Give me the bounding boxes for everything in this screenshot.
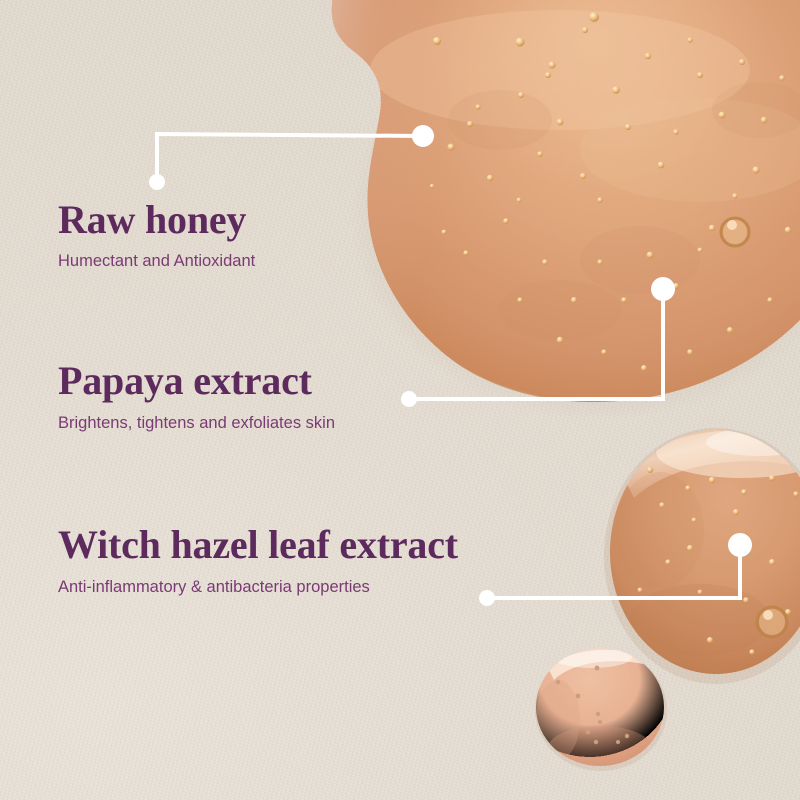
connector-papaya-extract-text-dot (401, 391, 417, 407)
callout-papaya-extract: Papaya extract Brightens, tightens and e… (58, 361, 335, 433)
callout-raw-honey-subtitle: Humectant and Antioxidant (58, 252, 255, 271)
connector-witch-hazel-text-dot (479, 590, 495, 606)
callout-witch-hazel-leaf-extract-title: Witch hazel leaf extract (58, 525, 458, 565)
callout-raw-honey-title: Raw honey (58, 200, 255, 240)
callout-raw-honey: Raw honey Humectant and Antioxidant (58, 200, 255, 271)
connector-raw-honey-line (157, 134, 423, 182)
ingredient-callout-graphic: Raw honey Humectant and Antioxidant Papa… (0, 0, 800, 800)
connector-raw-honey-text-dot (149, 174, 165, 190)
connector-witch-hazel-line (487, 545, 740, 598)
callout-witch-hazel-leaf-extract-subtitle: Anti-inflammatory & antibacteria propert… (58, 578, 458, 597)
callout-papaya-extract-subtitle: Brightens, tightens and exfoliates skin (58, 414, 335, 433)
connector-raw-honey-product-dot (412, 125, 434, 147)
callout-witch-hazel-leaf-extract: Witch hazel leaf extract Anti-inflammato… (58, 525, 458, 597)
callout-papaya-extract-title: Papaya extract (58, 361, 335, 401)
connector-witch-hazel-product-dot (728, 533, 752, 557)
connector-papaya-extract-product-dot (651, 277, 675, 301)
connector-papaya-extract-line (409, 289, 663, 399)
